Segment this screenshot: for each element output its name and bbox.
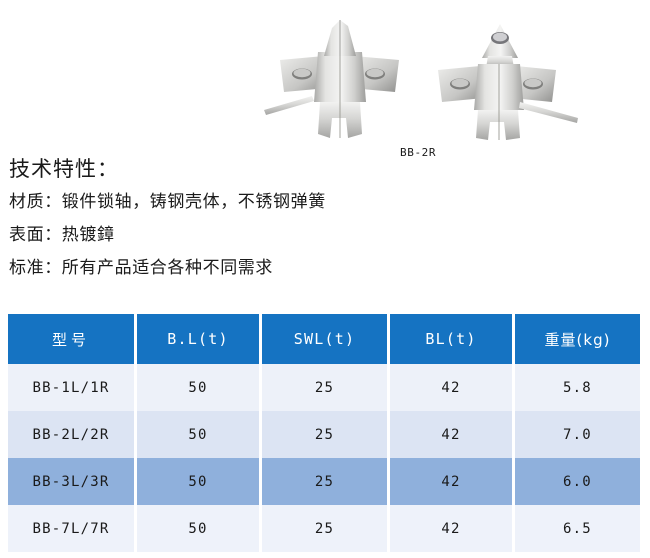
- cell-model: BB-7L/7R: [8, 505, 137, 552]
- cell-bl: 50: [137, 505, 262, 552]
- cell-swl: 25: [262, 505, 390, 552]
- product-image-area: BB-2R: [0, 0, 650, 160]
- column-header-bl2: BL(t): [390, 314, 515, 364]
- table-row: BB-7L/7R 50 25 42 6.5: [8, 505, 640, 552]
- cell-bl2: 42: [390, 364, 515, 411]
- cell-swl: 25: [262, 411, 390, 458]
- bridge-fitting-left-view: [262, 18, 422, 143]
- table-row: BB-2L/2R 50 25 42 7.0: [8, 411, 640, 458]
- cell-bl: 50: [137, 458, 262, 505]
- cell-bl2: 42: [390, 458, 515, 505]
- bridge-fitting-right-view: [420, 18, 580, 143]
- specification-table: 型号 B.L(t) SWL(t) BL(t) 重量(kg) BB-1L/1R 5…: [8, 314, 640, 552]
- table-header-row: 型号 B.L(t) SWL(t) BL(t) 重量(kg): [8, 314, 640, 364]
- column-header-swl: SWL(t): [262, 314, 390, 364]
- cell-weight: 6.5: [515, 505, 640, 552]
- cell-model: BB-2L/2R: [8, 411, 137, 458]
- table-row: BB-1L/1R 50 25 42 5.8: [8, 364, 640, 411]
- column-header-model: 型号: [8, 314, 137, 364]
- table-row: BB-3L/3R 50 25 42 6.0: [8, 458, 640, 505]
- cell-bl: 50: [137, 364, 262, 411]
- specs-heading: 技术特性：: [0, 152, 650, 186]
- spec-line-standard: 标准：所有产品适合各种不同需求: [0, 252, 650, 285]
- cell-weight: 7.0: [515, 411, 640, 458]
- cell-bl2: 42: [390, 505, 515, 552]
- column-header-bl: B.L(t): [137, 314, 262, 364]
- cell-swl: 25: [262, 458, 390, 505]
- cell-bl2: 42: [390, 411, 515, 458]
- column-header-weight: 重量(kg): [515, 314, 640, 364]
- cell-weight: 6.0: [515, 458, 640, 505]
- cell-model: BB-1L/1R: [8, 364, 137, 411]
- cell-weight: 5.8: [515, 364, 640, 411]
- cell-bl: 50: [137, 411, 262, 458]
- cell-swl: 25: [262, 364, 390, 411]
- technical-specs-block: 技术特性： 材质：锻件锁轴，铸钢壳体，不锈钢弹簧 表面：热镀鏱 标准：所有产品适…: [0, 152, 650, 285]
- spec-line-material: 材质：锻件锁轴，铸钢壳体，不锈钢弹簧: [0, 186, 650, 219]
- spec-line-surface: 表面：热镀鏱: [0, 219, 650, 252]
- cell-model: BB-3L/3R: [8, 458, 137, 505]
